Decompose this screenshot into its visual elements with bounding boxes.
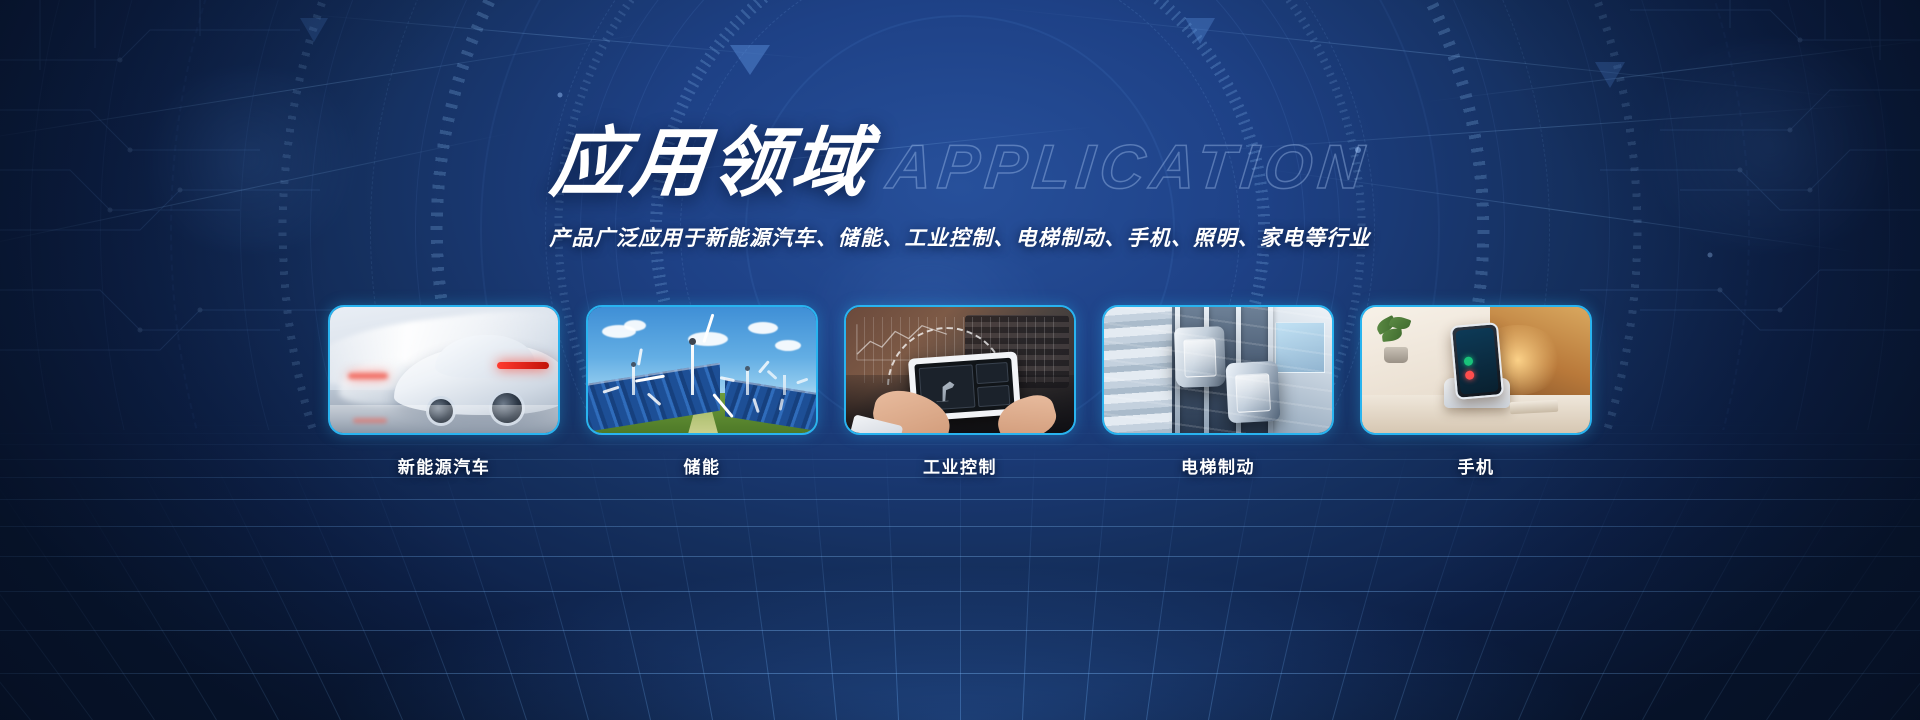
page-title-cn: 应用领域 (547, 126, 875, 202)
phone-charger-image (1362, 307, 1590, 433)
card-label: 储能 (586, 453, 818, 478)
page-subtitle: 产品广泛应用于新能源汽车、储能、工业控制、电梯制动、手机、照明、家电等行业 (0, 222, 1920, 252)
card-thumbnail[interactable] (1102, 305, 1334, 435)
card-label: 电梯制动 (1102, 453, 1334, 478)
card-thumbnail[interactable] (586, 305, 818, 435)
elevator-shaft-image (1104, 307, 1332, 433)
card-label: 手机 (1360, 453, 1592, 478)
page-title-en-outline: APPLICATION (884, 137, 1372, 199)
card-thumbnail[interactable] (328, 305, 560, 435)
title-row: 应用领域 APPLICATION (0, 126, 1920, 202)
solar-wind-image (588, 307, 816, 433)
application-card-energy-storage[interactable]: 储能 (586, 305, 818, 478)
application-banner: 应用领域 APPLICATION 产品广泛应用于新能源汽车、储能、工业控制、电梯… (0, 0, 1920, 720)
card-label: 新能源汽车 (328, 453, 560, 478)
application-card-industrial-control[interactable]: 工业控制 (844, 305, 1076, 478)
card-label: 工业控制 (844, 453, 1076, 478)
industrial-tablet-image (846, 307, 1074, 433)
card-thumbnail[interactable] (844, 305, 1076, 435)
application-card-list: 新能源汽车 (0, 305, 1920, 478)
application-card-elevator-braking[interactable]: 电梯制动 (1102, 305, 1334, 478)
application-card-new-energy-vehicle[interactable]: 新能源汽车 (328, 305, 560, 478)
sports-car-image (330, 307, 558, 433)
application-card-mobile-phone[interactable]: 手机 (1360, 305, 1592, 478)
card-thumbnail[interactable] (1360, 305, 1592, 435)
banner-content: 应用领域 APPLICATION 产品广泛应用于新能源汽车、储能、工业控制、电梯… (0, 0, 1920, 720)
